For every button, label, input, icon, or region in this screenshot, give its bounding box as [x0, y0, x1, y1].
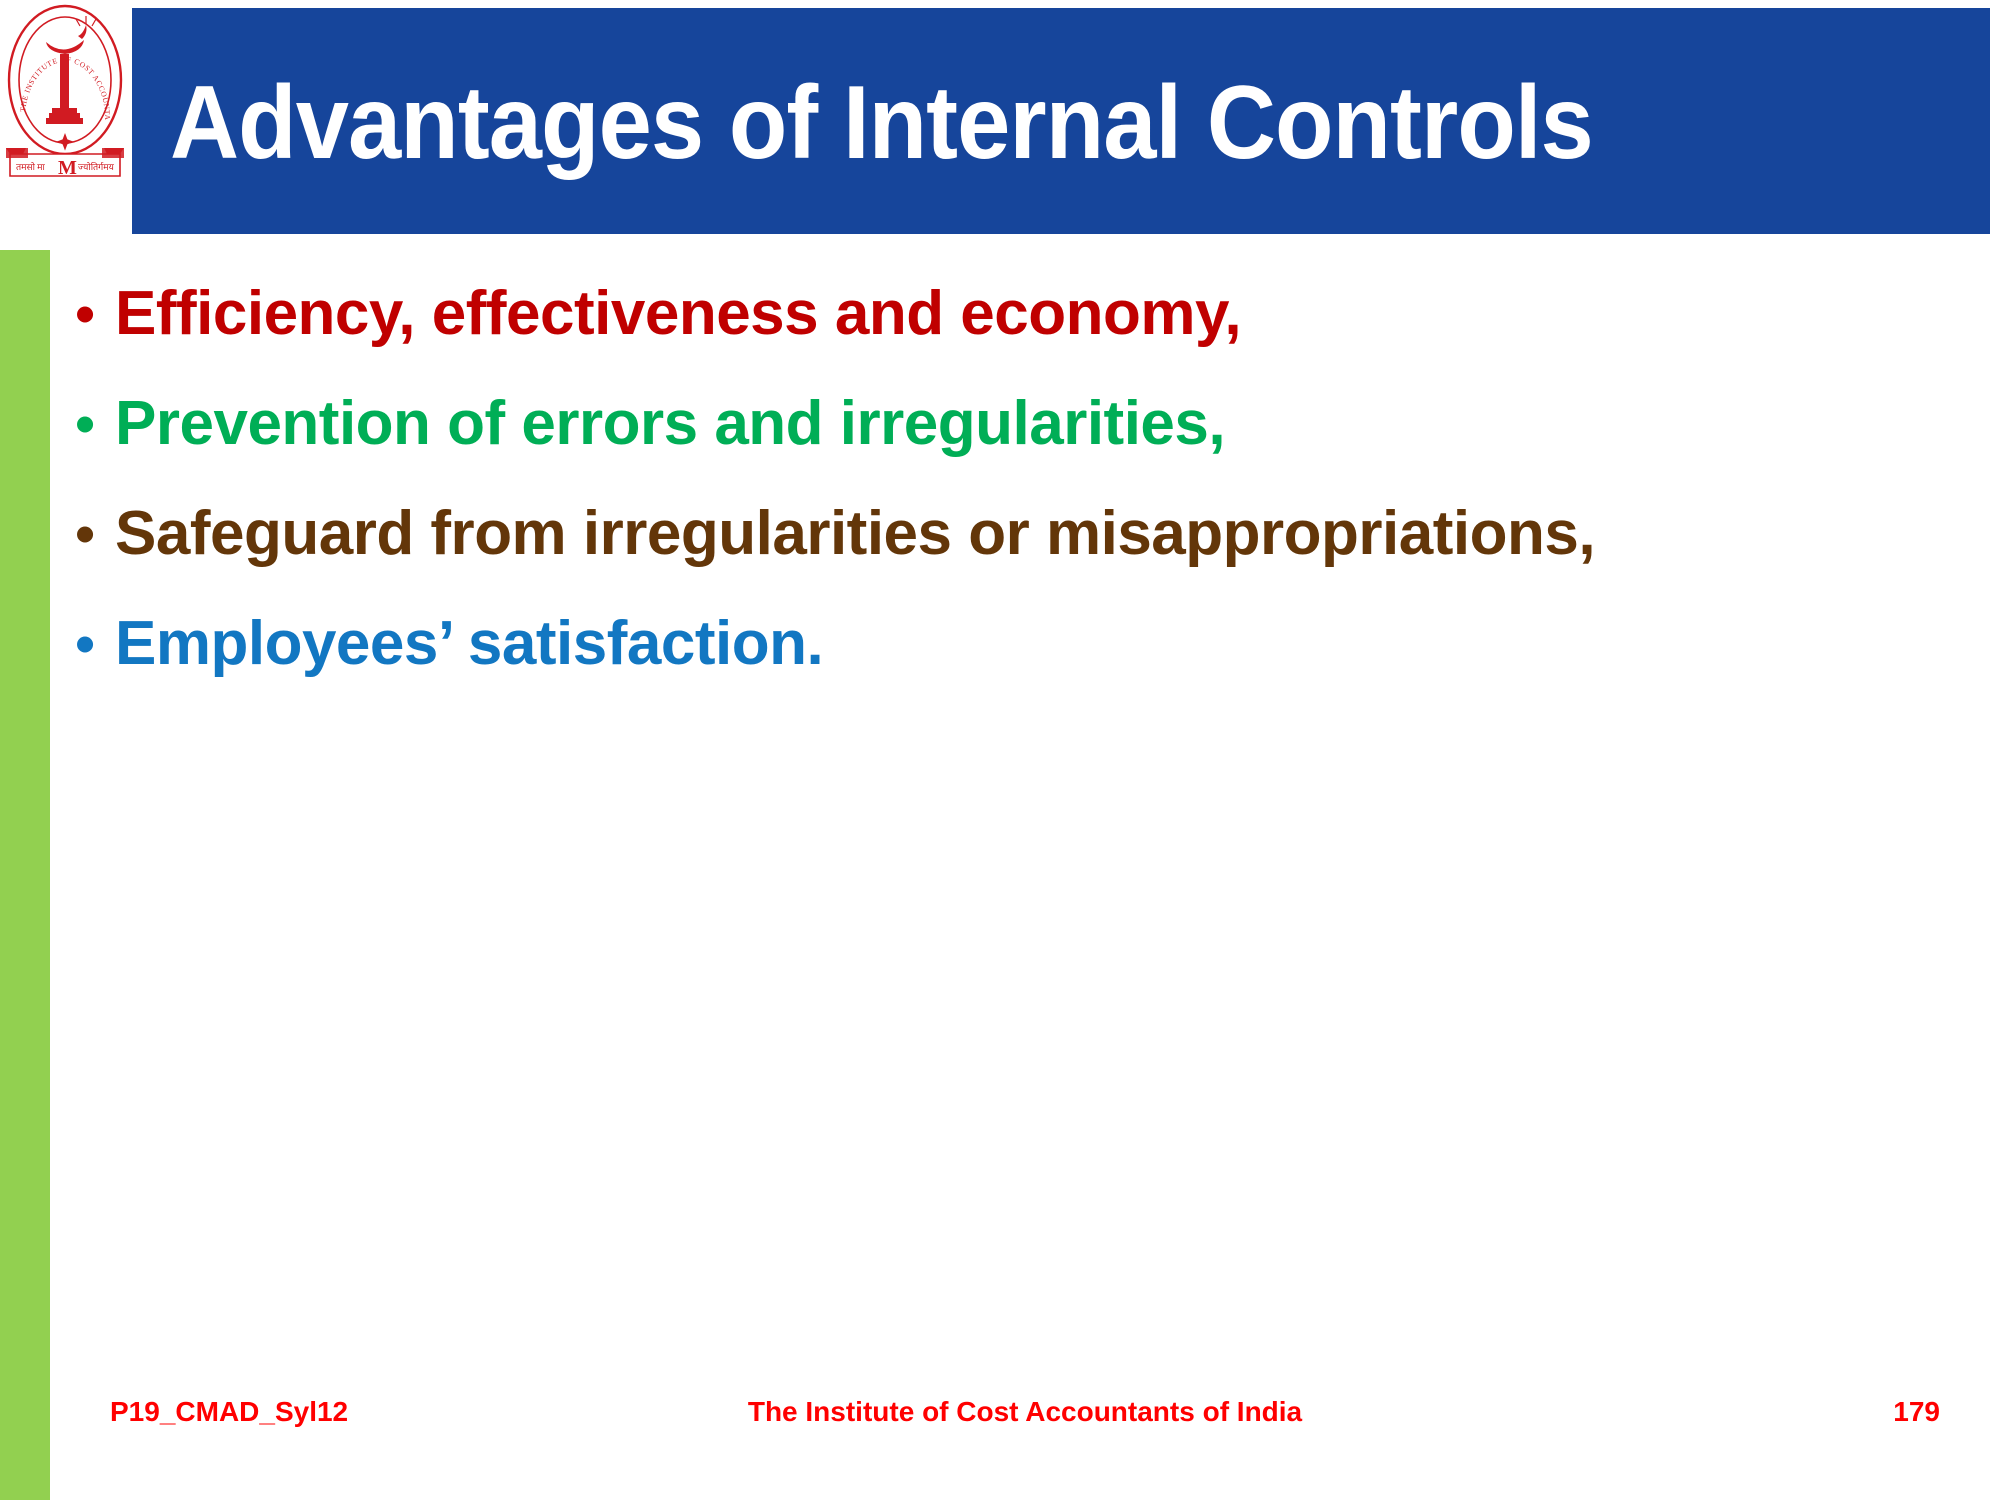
- footer-page-number: 179: [1510, 1396, 1940, 1428]
- svg-text:M: M: [58, 157, 77, 179]
- svg-text:तमसो मा: तमसो मा: [16, 161, 46, 172]
- footer-organization: The Institute of Cost Accountants of Ind…: [540, 1396, 1510, 1428]
- footer-course-code: P19_CMAD_Syl12: [110, 1396, 540, 1428]
- bullet-text-safeguard: Safeguard from irregularities or misappr…: [115, 488, 1595, 580]
- bullet-marker-icon: •: [55, 598, 115, 690]
- bullet-text-prevention: Prevention of errors and irregularities,: [115, 378, 1225, 470]
- bullet-marker-icon: •: [55, 378, 115, 470]
- list-item: • Efficiency, effectiveness and economy,: [55, 268, 1955, 378]
- list-item: • Safeguard from irregularities or misap…: [55, 488, 1955, 598]
- institute-logo: THE INSTITUTE OF COST ACCOUNTANTS OF IND…: [2, 2, 128, 188]
- slide-footer: P19_CMAD_Syl12 The Institute of Cost Acc…: [110, 1392, 1940, 1432]
- svg-text:ज्योतिर्गमय: ज्योतिर्गमय: [78, 161, 115, 172]
- list-item: • Employees’ satisfaction.: [55, 598, 1955, 708]
- bullet-list: • Efficiency, effectiveness and economy,…: [55, 268, 1955, 708]
- bullet-marker-icon: •: [55, 268, 115, 360]
- page-title: Advantages of Internal Controls: [170, 48, 1789, 198]
- bullet-marker-icon: •: [55, 488, 115, 580]
- left-accent-bar: [0, 250, 50, 1500]
- list-item: • Prevention of errors and irregularitie…: [55, 378, 1955, 488]
- bullet-text-efficiency: Efficiency, effectiveness and economy,: [115, 268, 1241, 360]
- slide: Advantages of Internal Controls THE INST…: [0, 0, 1990, 1500]
- institute-logo-icon: THE INSTITUTE OF COST ACCOUNTANTS OF IND…: [2, 2, 128, 188]
- bullet-text-employees: Employees’ satisfaction.: [115, 598, 823, 690]
